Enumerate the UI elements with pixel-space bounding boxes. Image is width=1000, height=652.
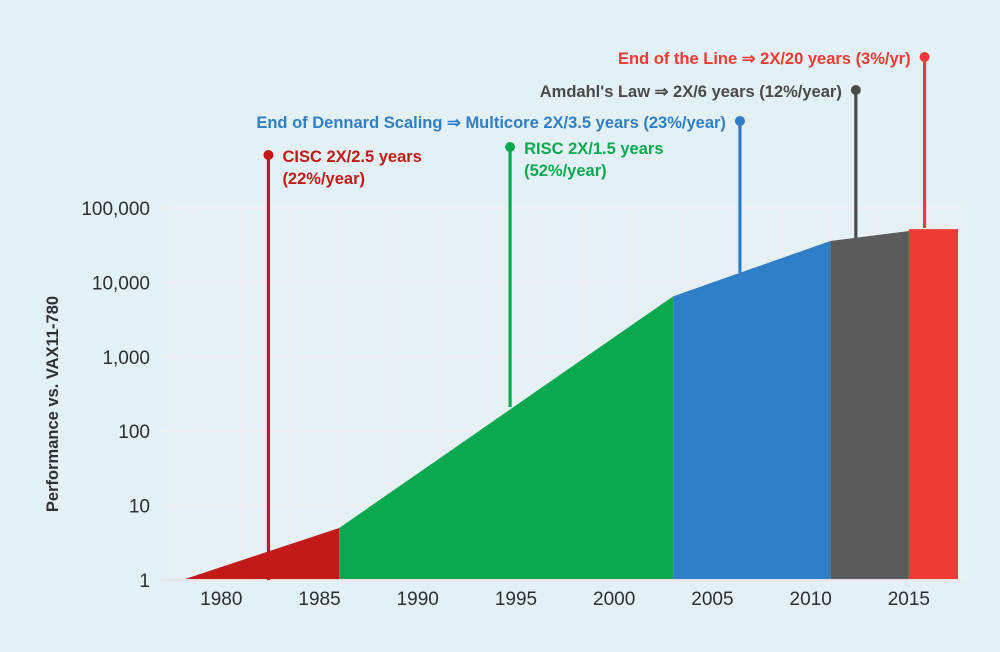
x-tick-label: 1980 [200, 589, 242, 610]
x-tick-label: 2000 [593, 589, 635, 610]
annotation-label-dennard: End of Dennard Scaling ⇒ Multicore 2X/3.… [256, 114, 726, 132]
y-tick-label: 10,000 [92, 273, 150, 294]
x-tick-label: 2015 [888, 589, 930, 610]
y-tick-label: 100,000 [81, 199, 150, 220]
annotation-marker-endofline [920, 52, 930, 62]
annotation-marker-dennard [735, 116, 745, 126]
x-tick-label: 1990 [397, 589, 439, 610]
annotation-label2-risc: (52%/year) [524, 162, 607, 180]
x-tick-label: 1985 [298, 589, 340, 610]
area-series-amdahl [830, 231, 909, 580]
x-tick-label: 2005 [691, 589, 733, 610]
area-series-multicore [673, 241, 830, 580]
chart-figure: 1101001,00010,000100,000 198019851990199… [0, 0, 1000, 652]
y-axis-tick-labels: 1101001,00010,000100,000 [81, 199, 150, 592]
y-tick-label: 1,000 [102, 348, 150, 369]
annotation-label-endofline: End of the Line ⇒ 2X/20 years (3%/yr) [618, 50, 911, 68]
area-series-end-of-the-line [909, 229, 958, 580]
y-tick-label: 10 [129, 497, 150, 518]
annotation-label-cisc: CISC 2X/2.5 years [282, 148, 421, 166]
x-tick-label: 1995 [495, 589, 537, 610]
annotation-label-risc: RISC 2X/1.5 years [524, 140, 663, 158]
performance-vs-vax-chart: 1101001,00010,000100,000 198019851990199… [0, 0, 1000, 652]
x-tick-label: 2010 [790, 589, 832, 610]
annotation-marker-risc [505, 142, 515, 152]
annotation-marker-cisc [263, 150, 273, 160]
annotation-marker-amdahl [851, 85, 861, 95]
annotation-label2-cisc: (22%/year) [282, 170, 365, 188]
y-tick-label: 100 [118, 422, 150, 443]
y-axis-title: Performance vs. VAX11-780 [44, 296, 62, 512]
y-tick-label: 1 [139, 571, 150, 592]
y-axis-title-text: Performance vs. VAX11-780 [44, 296, 62, 512]
x-axis-tick-labels: 19801985199019952000200520102015 [200, 589, 930, 610]
annotation-label-amdahl: Amdahl's Law ⇒ 2X/6 years (12%/year) [540, 83, 842, 101]
